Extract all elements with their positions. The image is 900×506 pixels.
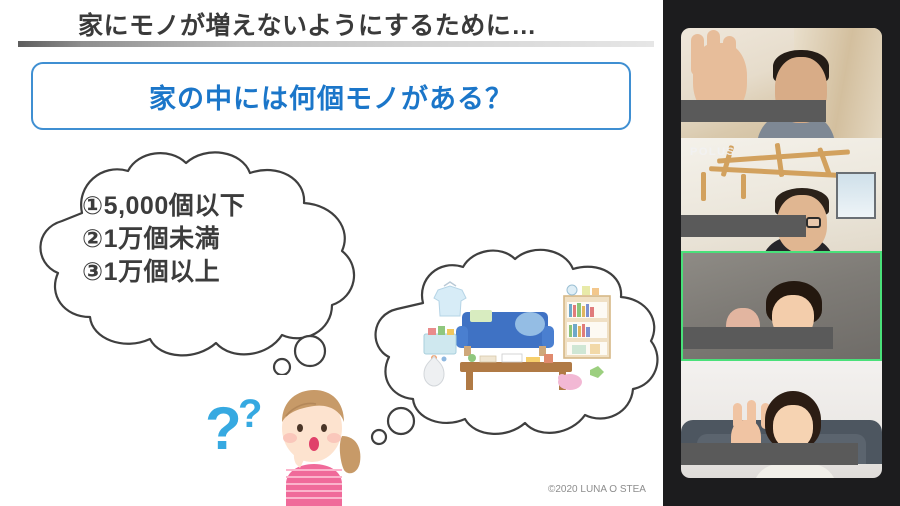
sofa-icon bbox=[456, 310, 554, 356]
option-item-2: ②1万個未満 bbox=[82, 223, 245, 256]
girl-character-illustration bbox=[262, 378, 367, 506]
bookshelf-icon bbox=[564, 285, 610, 358]
window bbox=[836, 172, 876, 219]
video-tile-participant-3[interactable] bbox=[681, 251, 882, 361]
finger bbox=[747, 400, 756, 430]
question-box: 家の中には何個モノがある？ bbox=[31, 62, 631, 130]
svg-text:?: ? bbox=[238, 392, 262, 436]
svg-text:?: ? bbox=[205, 395, 242, 462]
copyright-notice: ©2020 LUNA O STEA bbox=[548, 484, 646, 495]
video-tile-participant-4[interactable] bbox=[681, 361, 882, 478]
girl-head bbox=[282, 390, 344, 462]
participant-name-redaction-1 bbox=[681, 100, 826, 122]
participant-torso bbox=[753, 464, 837, 478]
finger bbox=[733, 403, 742, 429]
girl-body bbox=[286, 464, 342, 506]
trash-bag-icon bbox=[424, 356, 444, 386]
options-list: ①5,000個以下 ②1万個未満 ③1万個以上 bbox=[82, 190, 245, 289]
polus-watermark: POLUS bbox=[690, 146, 735, 158]
toy-box-icon bbox=[424, 326, 456, 362]
finger bbox=[707, 30, 720, 78]
hanging-shirt-icon bbox=[434, 282, 466, 316]
participant-name-redaction-4 bbox=[681, 443, 858, 465]
room-illustration bbox=[420, 278, 620, 398]
question-box-text: 家の中には何個モノがある？ bbox=[149, 77, 513, 116]
finger bbox=[723, 36, 736, 78]
option-item-3: ③1万個以上 bbox=[82, 256, 245, 289]
screen: 家にモノが増えないようにするために… 家の中には何個モノがある？ ①5,000個… bbox=[0, 0, 900, 506]
participant-name-redaction-2 bbox=[681, 215, 806, 237]
option-item-1: ①5,000個以下 bbox=[82, 190, 245, 223]
video-call-panel: POLUS bbox=[663, 0, 900, 506]
video-tile-participant-1[interactable] bbox=[681, 28, 882, 138]
presentation-slide: 家にモノが増えないようにするために… 家の中には何個モノがある？ ①5,000個… bbox=[0, 0, 663, 506]
finger bbox=[691, 34, 704, 76]
title-divider bbox=[18, 41, 654, 47]
coffee-table-icon bbox=[460, 354, 572, 390]
girl-ponytail bbox=[340, 436, 361, 473]
eyeglasses bbox=[806, 217, 821, 228]
page-title: 家にモノが増えないようにするために… bbox=[78, 6, 537, 42]
participant-name-redaction-3 bbox=[683, 327, 833, 349]
video-tile-participant-2[interactable]: POLUS bbox=[681, 138, 882, 251]
